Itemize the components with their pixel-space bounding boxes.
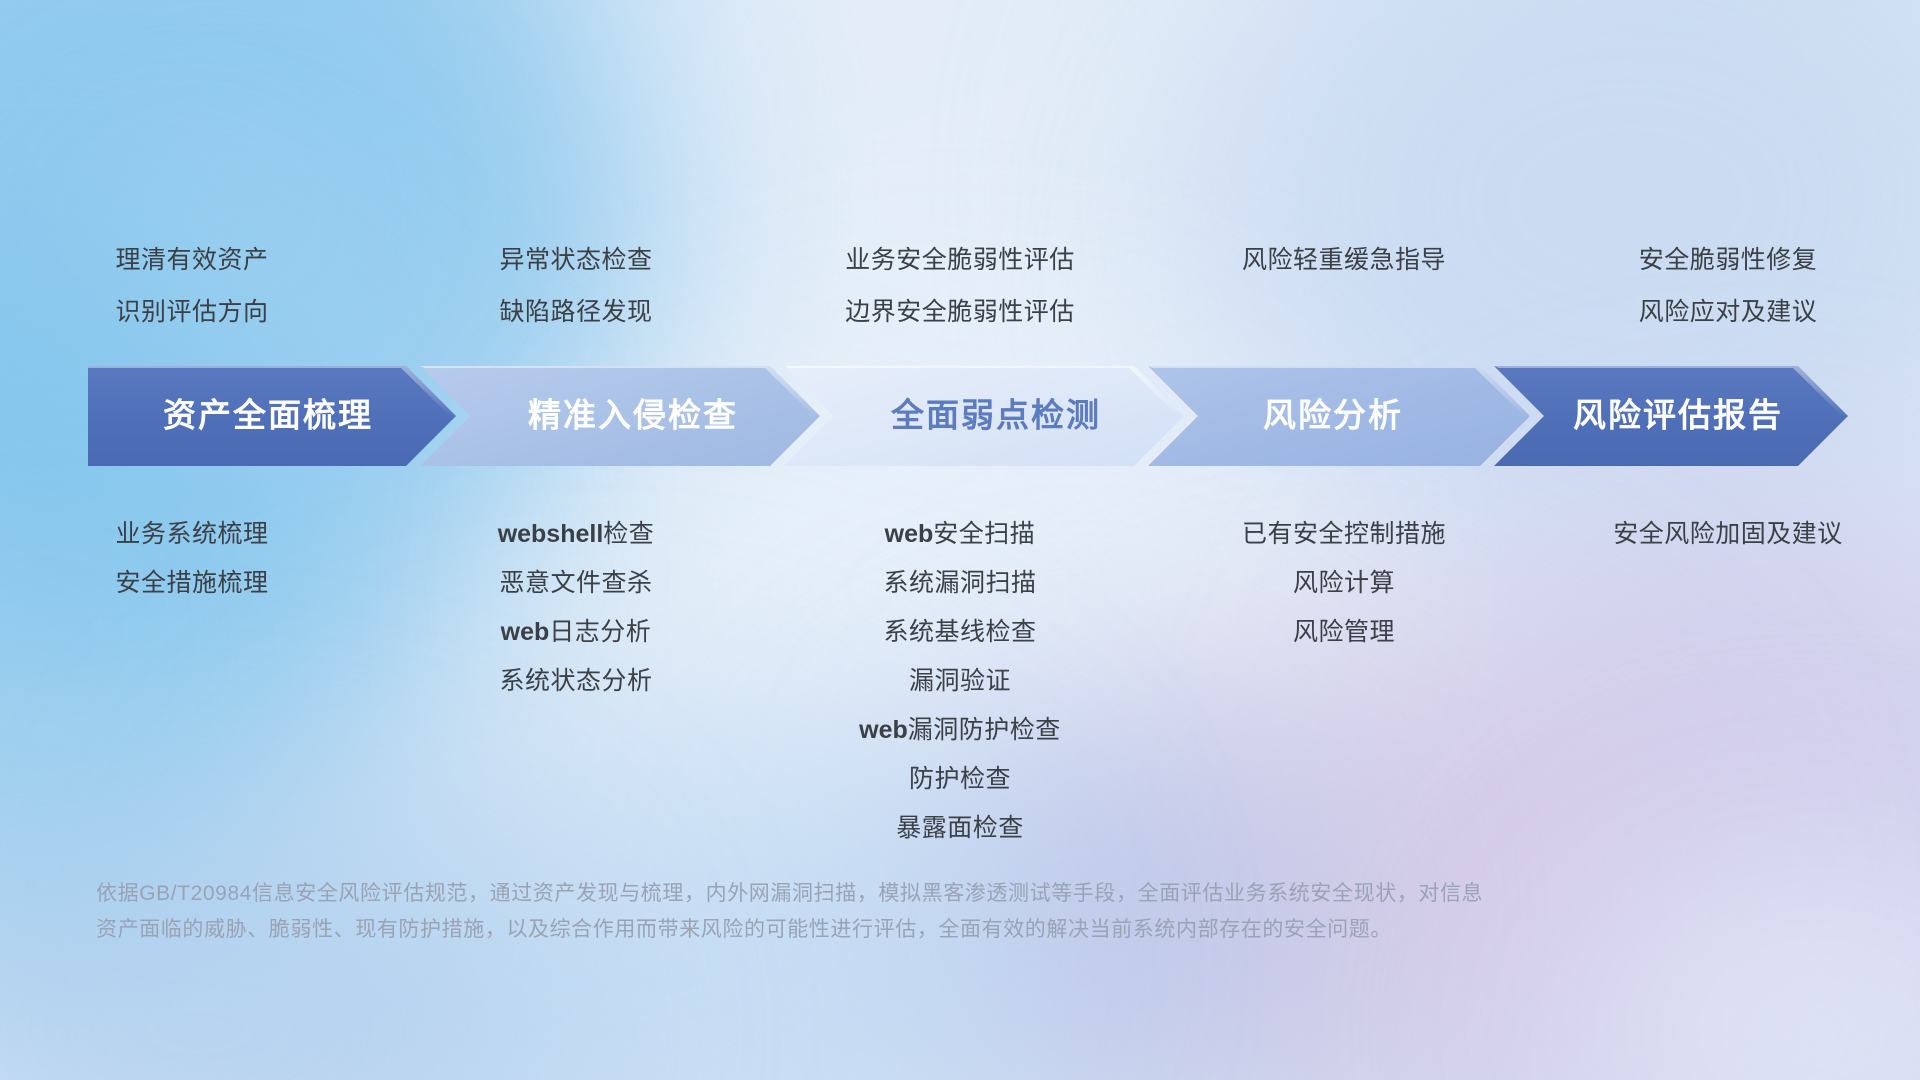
chevron-label-1: 资产全面梳理 [163,397,373,434]
detail-item-bold: web [885,520,934,548]
footer-line-1: 依据GB/T20984信息安全风险评估规范，通过资产发现与梳理，内外网漏洞扫描，… [96,876,1656,912]
detail-item: 防护检查 [909,755,1011,804]
detail-item-rest: 检查 [603,520,654,548]
detail-item: web日志分析 [501,608,652,657]
detail-lists-row: 业务系统梳理 安全措施梳理 webshell检查 恶意文件查杀 web日志分析 … [0,510,1920,853]
detail-item-rest: 日志分析 [549,618,651,646]
detail-item: 系统状态分析 [499,657,652,706]
detail-list-col-1: 业务系统梳理 安全措施梳理 [0,510,384,853]
detail-item-bold: web [501,618,550,646]
top-notes-col-2: 异常状态检查 缺陷路径发现 [384,234,768,338]
process-diagram: 理清有效资产 识别评估方向 异常状态检查 缺陷路径发现 业务安全脆弱性评估 边界… [0,0,1920,1080]
detail-item: 安全措施梳理 [115,559,268,608]
detail-item: 安全风险加固及建议 [1613,510,1843,559]
detail-item: web漏洞防护检查 [859,706,1061,755]
process-chevron-banner: 资产全面梳理 精准入侵检查 全面弱点检测 风险分析 风险评估报告 [88,366,1848,466]
detail-item: 漏洞验证 [909,657,1011,706]
top-note: 风险轻重缓急指导 [1242,234,1446,286]
footer-description: 依据GB/T20984信息安全风险评估规范，通过资产发现与梳理，内外网漏洞扫描，… [96,876,1656,948]
detail-item: 系统基线检查 [883,608,1036,657]
detail-list-col-5: 安全风险加固及建议 [1536,510,1920,853]
detail-item-rest: 漏洞防护检查 [908,716,1061,744]
top-note: 业务安全脆弱性评估 [845,234,1075,286]
chevron-label-5: 风险评估报告 [1573,397,1783,434]
top-note: 安全脆弱性修复 [1639,234,1818,286]
detail-item: 暴露面检查 [896,804,1024,853]
detail-item: web安全扫描 [885,510,1036,559]
top-note: 理清有效资产 [115,234,268,286]
detail-item: 风险管理 [1293,608,1395,657]
top-notes-col-1: 理清有效资产 识别评估方向 [0,234,384,338]
footer-line-2: 资产面临的威胁、脆弱性、现有防护措施，以及综合作用而带来风险的可能性进行评估，全… [96,912,1656,948]
top-notes-col-4: 风险轻重缓急指导 [1152,234,1536,338]
detail-item: 系统漏洞扫描 [883,559,1036,608]
top-note: 边界安全脆弱性评估 [845,286,1075,338]
top-notes-col-5: 安全脆弱性修复 风险应对及建议 [1536,234,1920,338]
detail-list-col-2: webshell检查 恶意文件查杀 web日志分析 系统状态分析 [384,510,768,853]
detail-item-bold: webshell [498,520,604,548]
detail-list-col-4: 已有安全控制措施 风险计算 风险管理 [1152,510,1536,853]
detail-item: 风险计算 [1293,559,1395,608]
top-note: 异常状态检查 [499,234,652,286]
chevron-label-4: 风险分析 [1263,397,1403,434]
top-notes-col-3: 业务安全脆弱性评估 边界安全脆弱性评估 [768,234,1152,338]
detail-item: webshell检查 [498,510,655,559]
top-notes-row: 理清有效资产 识别评估方向 异常状态检查 缺陷路径发现 业务安全脆弱性评估 边界… [0,234,1920,338]
top-note: 风险应对及建议 [1639,286,1818,338]
top-note: 识别评估方向 [115,286,268,338]
detail-item: 已有安全控制措施 [1242,510,1446,559]
top-note: 缺陷路径发现 [499,286,652,338]
detail-item-rest: 安全扫描 [933,520,1035,548]
detail-item: 业务系统梳理 [115,510,268,559]
detail-item: 恶意文件查杀 [499,559,652,608]
chevron-label-2: 精准入侵检查 [528,397,738,434]
detail-item-bold: web [859,716,908,744]
chevron-svg: 资产全面梳理 精准入侵检查 全面弱点检测 风险分析 风险评估报告 [88,366,1848,466]
detail-list-col-3: web安全扫描 系统漏洞扫描 系统基线检查 漏洞验证 web漏洞防护检查 防护检… [768,510,1152,853]
chevron-label-3: 全面弱点检测 [890,397,1101,434]
